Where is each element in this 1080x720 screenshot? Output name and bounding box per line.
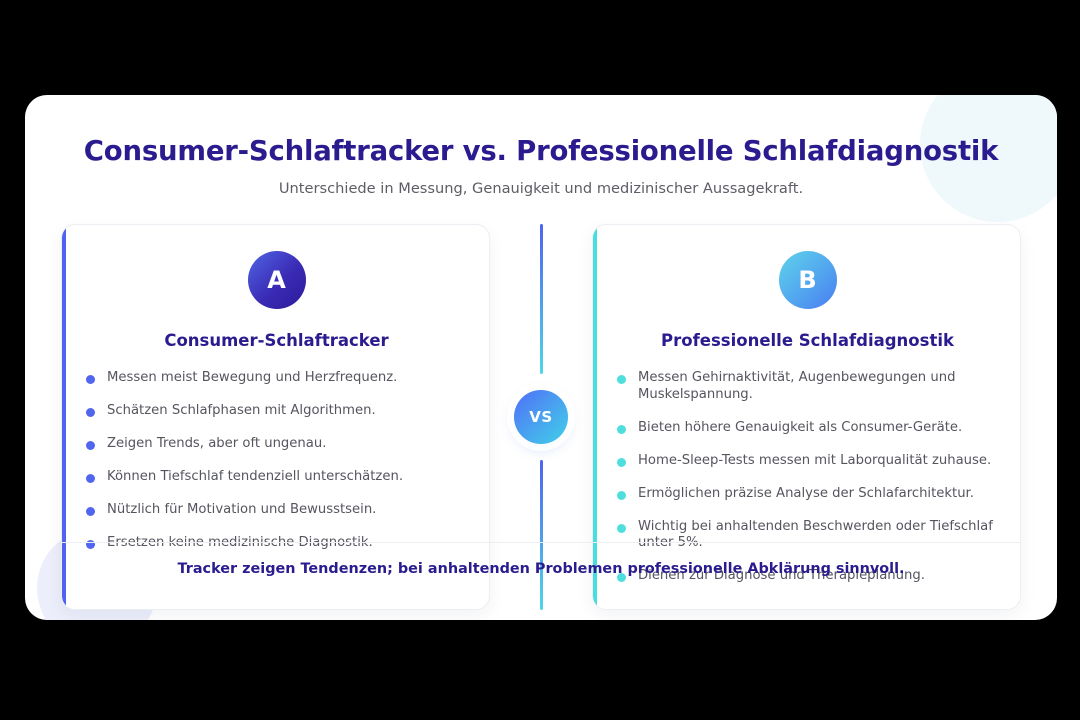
page-title: Consumer-Schlaftracker vs. Professionell…: [25, 135, 1057, 168]
card-a-accent-bar: [62, 225, 66, 609]
list-item: Wichtig bei anhaltenden Beschwerden oder…: [617, 519, 998, 552]
bullet-dot-icon: [617, 458, 626, 467]
bullet-dot-icon: [86, 441, 95, 450]
footer-divider: [61, 542, 1021, 543]
list-item: Messen meist Bewegung und Herzfrequenz.: [86, 370, 467, 387]
list-item: Zeigen Trends, aber oft ungenau.: [86, 436, 467, 453]
list-item: Ersetzen keine medizinische Diagnostik.: [86, 535, 467, 552]
card-a-badge-letter: A: [267, 266, 286, 294]
list-item: Bieten höhere Genauigkeit als Consumer-G…: [617, 420, 998, 437]
card-a-badge: A: [248, 251, 306, 309]
bullet-dot-icon: [86, 408, 95, 417]
bullet-dot-icon: [86, 507, 95, 516]
card-b-badge-letter: B: [798, 266, 816, 294]
list-item-text: Schätzen Schlafphasen mit Algorithmen.: [107, 403, 376, 420]
list-item: Ermöglichen präzise Analyse der Schlafar…: [617, 486, 998, 503]
list-item-text: Zeigen Trends, aber oft ungenau.: [107, 436, 326, 453]
comparison-columns: A Consumer-Schlaftracker Messen meist Be…: [61, 224, 1021, 610]
header: Consumer-Schlaftracker vs. Professionell…: [25, 135, 1057, 199]
list-item-text: Home-Sleep-Tests messen mit Laborqualitä…: [638, 453, 991, 470]
bullet-dot-icon: [86, 375, 95, 384]
list-item: Messen Gehirnaktivität, Augenbewegungen …: [617, 370, 998, 403]
list-item-text: Messen Gehirnaktivität, Augenbewegungen …: [638, 370, 998, 403]
list-item: Schätzen Schlafphasen mit Algorithmen.: [86, 403, 467, 420]
bullet-dot-icon: [617, 425, 626, 434]
card-b-title: Professionelle Schlafdiagnostik: [617, 331, 998, 350]
list-item-text: Wichtig bei anhaltenden Beschwerden oder…: [638, 519, 998, 552]
list-item: Home-Sleep-Tests messen mit Laborqualitä…: [617, 453, 998, 470]
page-subtitle: Unterschiede in Messung, Genauigkeit und…: [25, 180, 1057, 199]
card-b-list: Messen Gehirnaktivität, Augenbewegungen …: [617, 370, 998, 585]
list-item-text: Ermöglichen präzise Analyse der Schlafar…: [638, 486, 974, 503]
list-item-text: Messen meist Bewegung und Herzfrequenz.: [107, 370, 397, 387]
bullet-dot-icon: [617, 375, 626, 384]
vs-badge-label: VS: [529, 408, 552, 426]
list-item-text: Nützlich für Motivation und Bewusstsein.: [107, 502, 376, 519]
list-item: Nützlich für Motivation und Bewusstsein.: [86, 502, 467, 519]
card-b-badge: B: [779, 251, 837, 309]
bullet-dot-icon: [86, 474, 95, 483]
bullet-dot-icon: [617, 524, 626, 533]
screenshot-stage: Consumer-Schlaftracker vs. Professionell…: [0, 0, 1080, 720]
card-a-list: Messen meist Bewegung und Herzfrequenz. …: [86, 370, 467, 552]
comparison-card-a: A Consumer-Schlaftracker Messen meist Be…: [61, 224, 490, 610]
vs-divider: VS: [506, 224, 576, 610]
card-a-title: Consumer-Schlaftracker: [86, 331, 467, 350]
vs-line-bottom: [540, 460, 543, 610]
list-item-text: Ersetzen keine medizinische Diagnostik.: [107, 535, 373, 552]
list-item-text: Können Tiefschlaf tendenziell unterschät…: [107, 469, 403, 486]
comparison-card-b: B Professionelle Schlafdiagnostik Messen…: [592, 224, 1021, 610]
card-b-accent-bar: [593, 225, 597, 609]
list-item-text: Bieten höhere Genauigkeit als Consumer-G…: [638, 420, 962, 437]
footer-summary: Tracker zeigen Tendenzen; bei anhaltende…: [25, 561, 1057, 577]
bullet-dot-icon: [617, 491, 626, 500]
list-item: Können Tiefschlaf tendenziell unterschät…: [86, 469, 467, 486]
vs-line-top: [540, 224, 543, 374]
vs-badge: VS: [514, 390, 568, 444]
infographic-panel: Consumer-Schlaftracker vs. Professionell…: [25, 95, 1057, 620]
